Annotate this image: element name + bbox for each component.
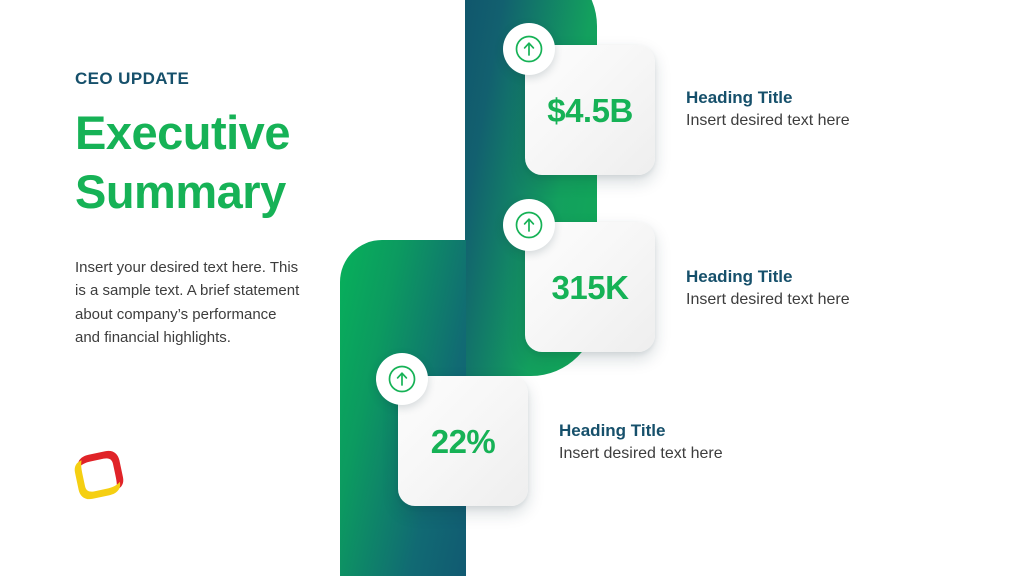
kpi-subtext-2: Insert desired text here <box>686 290 936 310</box>
body-paragraph: Insert your desired text here. This is a… <box>75 256 300 350</box>
arrow-up-circle-icon <box>503 199 555 251</box>
eyebrow-label: CEO UPDATE <box>75 70 325 89</box>
kpi-heading-1: Heading Title <box>686 88 936 108</box>
kpi-value-1: $4.5B <box>547 94 633 127</box>
title-block: CEO UPDATE Executive Summary <box>75 70 325 222</box>
kpi-heading-3: Heading Title <box>559 421 809 441</box>
kpi-text-1: Heading Title Insert desired text here <box>686 88 936 131</box>
company-logo <box>68 444 130 506</box>
kpi-value-2: 315K <box>552 271 629 304</box>
logo-icon <box>68 444 130 506</box>
kpi-text-3: Heading Title Insert desired text here <box>559 421 809 464</box>
kpi-heading-2: Heading Title <box>686 267 936 287</box>
slide-canvas: CEO UPDATE Executive Summary Insert your… <box>0 0 1024 576</box>
kpi-text-2: Heading Title Insert desired text here <box>686 267 936 310</box>
kpi-subtext-3: Insert desired text here <box>559 444 809 464</box>
kpi-subtext-1: Insert desired text here <box>686 111 936 131</box>
arrow-up-circle-icon <box>503 23 555 75</box>
kpi-value-3: 22% <box>431 425 496 458</box>
page-title: Executive Summary <box>75 103 325 222</box>
arrow-up-circle-icon <box>376 353 428 405</box>
